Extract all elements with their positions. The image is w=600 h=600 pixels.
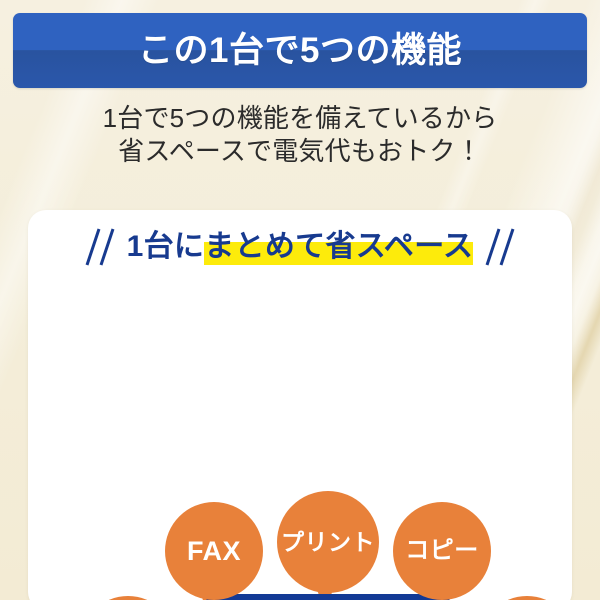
feature-bubble-copy[interactable]: コピー bbox=[393, 502, 491, 600]
feature-bubble-print-label: プリント bbox=[281, 531, 375, 554]
feature-bubble-print[interactable]: プリント bbox=[277, 491, 379, 593]
feature-bubble-fax[interactable]: FAX bbox=[165, 502, 263, 600]
feature-bubble-fax-label: FAX bbox=[187, 538, 241, 565]
card-heading-plain: 1台に bbox=[127, 230, 205, 263]
slash-left-icon bbox=[85, 226, 121, 268]
card-heading: 1台にまとめて省スペース bbox=[28, 224, 572, 270]
feature-card: 1台にまとめて省スペース bbox=[28, 210, 572, 600]
subtitle-line-2: 省スペースで電気代もおトク！ bbox=[0, 135, 600, 168]
header-title: この1台で5つの機能 bbox=[138, 33, 462, 68]
slash-right-icon bbox=[479, 226, 515, 268]
card-heading-text: 1台にまとめて省スペース bbox=[127, 232, 474, 262]
promo-banner-page: この1台で5つの機能 1台で5つの機能を備えているから 省スペースで電気代もおト… bbox=[0, 0, 600, 600]
feature-bubble-scan[interactable]: スキャン bbox=[479, 596, 572, 600]
card-heading-highlight: まとめて省スペース bbox=[204, 230, 473, 265]
feature-bubble-copy-label: コピー bbox=[405, 539, 479, 563]
subtitle-block: 1台で5つの機能を備えているから 省スペースで電気代もおトク！ bbox=[0, 102, 600, 168]
header-banner: この1台で5つの機能 bbox=[13, 13, 587, 88]
subtitle-line-1: 1台で5つの機能を備えているから bbox=[0, 102, 600, 135]
feature-bubble-telephone[interactable]: 電話 bbox=[80, 596, 176, 600]
